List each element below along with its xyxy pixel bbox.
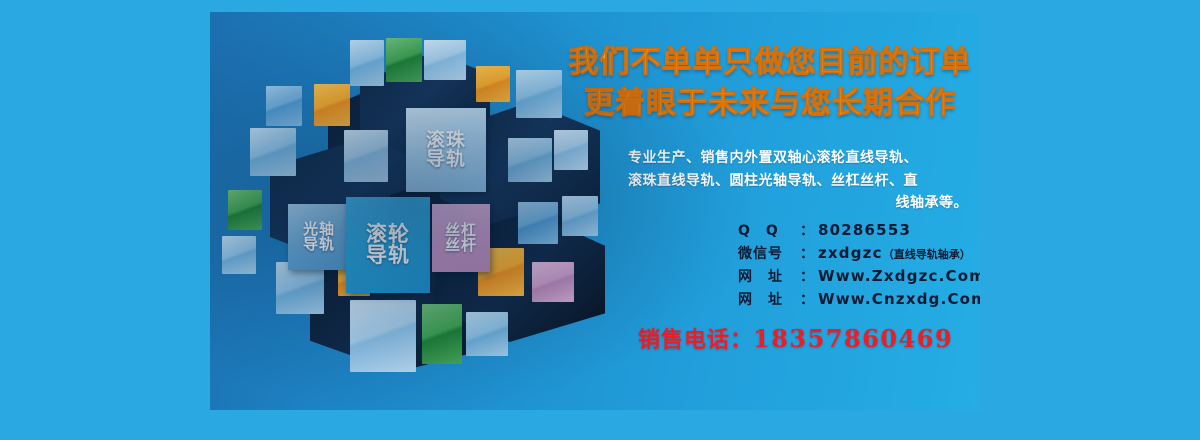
contact-row-website-1: 网 址 ： Www.Zxdgzc.Com <box>738 266 980 286</box>
contact-colon: ： <box>800 243 814 263</box>
contact-value-wechat[interactable]: zxdgzc <box>818 244 883 262</box>
headline-line-2: 更着眼于未来与您长期合作 <box>560 83 980 124</box>
product-cube-gunzhu-daogui[interactable]: 滚珠 导轨 <box>406 108 486 192</box>
decorative-cube <box>222 236 256 274</box>
promo-banner: 滚珠 导轨 光轴 导轨 滚轮 导轨 丝杠 丝杆 <box>210 12 980 410</box>
decorative-cube <box>266 86 302 126</box>
contact-row-qq: Q Q ： 80286553 <box>738 220 980 240</box>
contact-block: Q Q ： 80286553 微信号 ： zxdgzc （直线导轨轴承） 网 址… <box>738 220 980 312</box>
sales-phone-number[interactable]: 18357860469 <box>753 324 953 353</box>
product-cube-line2: 导轨 <box>303 237 335 252</box>
product-cube-guangzhou-daogui[interactable]: 光轴 导轨 <box>288 204 350 270</box>
description-line-1: 专业生产、销售内外置双轴心滚轮直线导轨、 <box>578 147 968 170</box>
description-line-3: 线轴承等。 <box>578 192 968 215</box>
decorative-cube <box>314 84 350 126</box>
headline-line-1: 我们不单单只做您目前的订单 <box>560 42 980 83</box>
decorative-cube <box>350 40 384 86</box>
contact-label-website: 网 址 <box>738 289 800 309</box>
decorative-cube <box>344 130 388 182</box>
product-cube-line2: 导轨 <box>366 245 410 266</box>
decorative-cube <box>516 70 562 118</box>
sales-phone[interactable]: 销售电话： 18357860469 <box>638 322 953 354</box>
product-cube-line2: 丝杆 <box>445 238 477 253</box>
contact-colon: ： <box>800 289 814 309</box>
decorative-cube <box>386 38 422 82</box>
contact-row-wechat: 微信号 ： zxdgzc （直线导轨轴承） <box>738 243 980 263</box>
contact-label-wechat: 微信号 <box>738 243 800 263</box>
decorative-cube <box>350 300 416 372</box>
contact-colon: ： <box>800 220 814 240</box>
decorative-cube <box>508 138 552 182</box>
banner-text-content: 我们不单单只做您目前的订单 更着眼于未来与您长期合作 专业生产、销售内外置双轴心… <box>560 12 980 410</box>
decorative-cube <box>422 304 462 364</box>
decorative-cube <box>518 202 558 244</box>
decorative-cube <box>466 312 508 356</box>
contact-value-qq[interactable]: 80286553 <box>818 221 911 239</box>
product-cube-sigang-sigan[interactable]: 丝杠 丝杆 <box>432 204 490 272</box>
product-cube-line2: 导轨 <box>426 150 466 169</box>
description: 专业生产、销售内外置双轴心滚轮直线导轨、 滚珠直线导轨、圆柱光轴导轨、丝杠丝杆、… <box>578 147 968 215</box>
contact-colon: ： <box>800 266 814 286</box>
contact-label-qq: Q Q <box>738 220 800 240</box>
contact-row-website-2: 网 址 ： Www.Cnzxdg.Com <box>738 289 980 309</box>
contact-label-website: 网 址 <box>738 266 800 286</box>
sales-phone-label: 销售电话： <box>638 322 753 354</box>
decorative-cube <box>228 190 262 230</box>
description-line-2: 滚珠直线导轨、圆柱光轴导轨、丝杠丝杆、直 <box>578 170 968 193</box>
contact-value-website-2[interactable]: Www.Cnzxdg.Com <box>818 290 980 308</box>
decorative-cube <box>476 66 510 102</box>
product-cube-line1: 滚轮 <box>366 224 410 245</box>
decorative-cube <box>250 128 296 176</box>
banner-page: 滚珠 导轨 光轴 导轨 滚轮 导轨 丝杠 丝杆 <box>0 0 1200 440</box>
contact-value-website-1[interactable]: Www.Zxdgzc.Com <box>818 267 980 285</box>
headline: 我们不单单只做您目前的订单 更着眼于未来与您长期合作 <box>560 42 980 125</box>
contact-note-wechat: （直线导轨轴承） <box>883 246 971 262</box>
decorative-cube <box>424 40 466 80</box>
product-cube-gunlun-daogui[interactable]: 滚轮 导轨 <box>346 197 430 293</box>
